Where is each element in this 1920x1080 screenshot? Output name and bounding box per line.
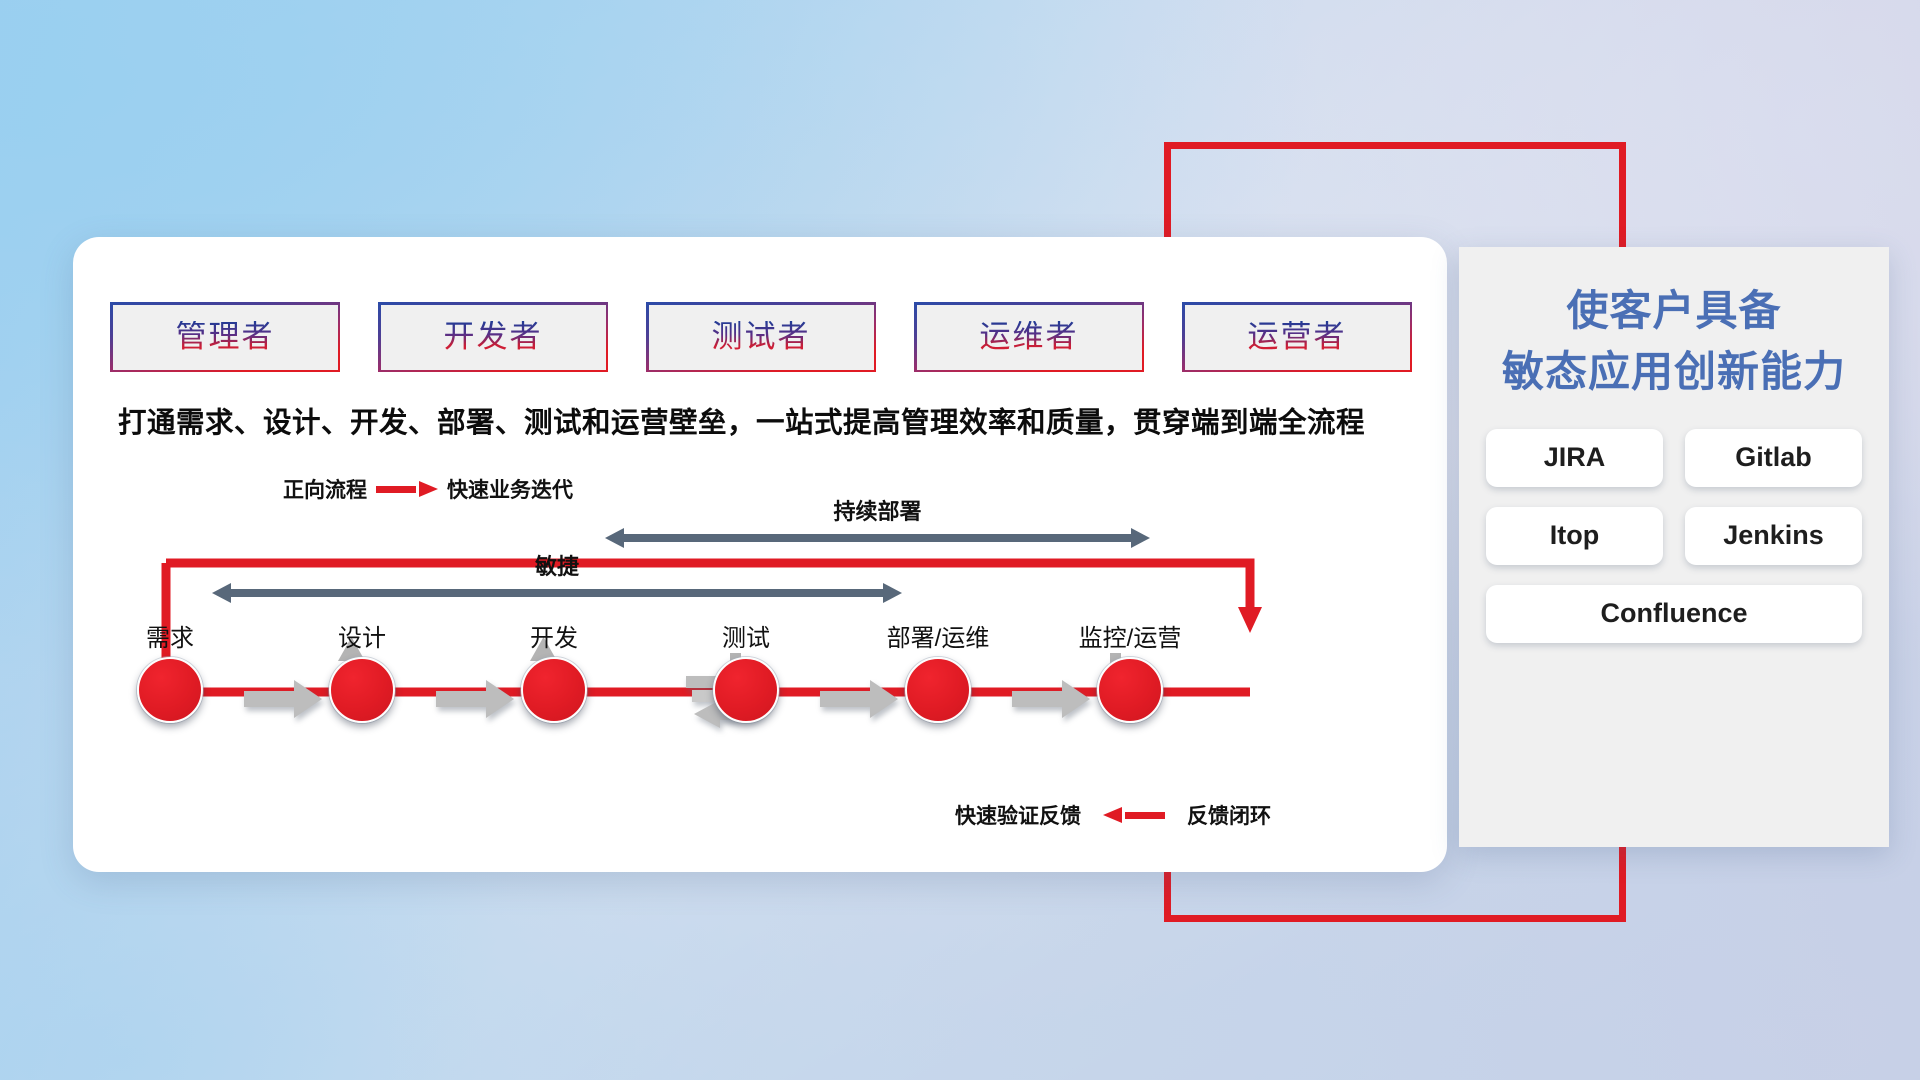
arrow-shaft — [622, 534, 1133, 542]
arrow-head-right-icon — [883, 583, 902, 603]
stage-label: 开发 — [494, 618, 614, 653]
stage-dot — [1097, 657, 1163, 723]
role-label: 开发者 — [444, 321, 543, 354]
continuous-deployment-label: 持续部署 — [605, 494, 1150, 526]
stage-label: 部署/运维 — [878, 618, 998, 653]
role-box-manager[interactable]: 管理者 — [110, 302, 340, 372]
feedback-loop-label: 反馈闭环 — [1187, 800, 1271, 830]
stage-design[interactable]: 设计 — [302, 618, 422, 723]
stage-label: 设计 — [302, 618, 422, 653]
tool-chip-itop[interactable]: Itop — [1486, 507, 1663, 565]
stage-dot — [521, 657, 587, 723]
agile-label: 敏捷 — [212, 549, 902, 581]
pipeline-stage-row: 需求 设计 开发 测试 部署/运维 监控/运营 — [110, 618, 1430, 753]
role-box-developer[interactable]: 开发者 — [378, 302, 608, 372]
red-left-arrow-icon — [1103, 807, 1165, 823]
headline-text: 打通需求、设计、开发、部署、测试和运营壁垒，一站式提高管理效率和质量，贯穿端到端… — [118, 400, 1408, 441]
red-right-arrow-icon — [376, 481, 438, 497]
panel-title: 使客户具备 敏态应用创新能力 — [1459, 247, 1889, 403]
fast-validation-label: 快速验证反馈 — [955, 800, 1081, 830]
tool-chip-jenkins[interactable]: Jenkins — [1685, 507, 1862, 565]
role-label: 运维者 — [980, 321, 1079, 354]
role-box-tester[interactable]: 测试者 — [646, 302, 876, 372]
panel-title-line-1: 使客户具备 — [1477, 281, 1871, 342]
agile-span-arrow: 敏捷 — [212, 583, 902, 603]
feedback-legend: 快速验证反馈 反馈闭环 — [955, 800, 1271, 830]
role-label: 运营者 — [1248, 321, 1347, 354]
stage-dot — [713, 657, 779, 723]
stage-deploy-ops[interactable]: 部署/运维 — [878, 618, 998, 723]
role-label: 测试者 — [712, 321, 811, 354]
stage-dot — [137, 657, 203, 723]
tool-chip-gitlab[interactable]: Gitlab — [1685, 429, 1862, 487]
role-box-ops[interactable]: 运维者 — [914, 302, 1144, 372]
forward-flow-legend: 正向流程 快速业务迭代 — [283, 474, 573, 504]
stage-development[interactable]: 开发 — [494, 618, 614, 723]
stage-label: 需求 — [110, 618, 230, 653]
panel-title-line-2: 敏态应用创新能力 — [1477, 342, 1871, 403]
forward-flow-label: 正向流程 — [283, 474, 367, 504]
stage-monitor-operations[interactable]: 监控/运营 — [1070, 618, 1190, 723]
stage-label: 监控/运营 — [1070, 618, 1190, 653]
stage-dot — [905, 657, 971, 723]
tool-chip-confluence[interactable]: Confluence — [1486, 585, 1862, 643]
capability-panel: 使客户具备 敏态应用创新能力 JIRA Gitlab Itop Jenkins … — [1459, 247, 1889, 847]
fast-iteration-label: 快速业务迭代 — [447, 474, 573, 504]
stage-label: 测试 — [686, 618, 806, 653]
stage-dot — [329, 657, 395, 723]
arrow-shaft — [229, 589, 885, 597]
arrow-head-right-icon — [1131, 528, 1150, 548]
role-box-row: 管理者 开发者 测试者 运维者 运营者 — [110, 302, 1412, 372]
tool-chip-grid: JIRA Gitlab Itop Jenkins Confluence — [1459, 403, 1889, 643]
role-box-operations[interactable]: 运营者 — [1182, 302, 1412, 372]
role-label: 管理者 — [176, 321, 275, 354]
tool-chip-jira[interactable]: JIRA — [1486, 429, 1663, 487]
continuous-deployment-span-arrow: 持续部署 — [605, 528, 1150, 548]
stage-requirement[interactable]: 需求 — [110, 618, 230, 723]
stage-testing[interactable]: 测试 — [686, 618, 806, 723]
